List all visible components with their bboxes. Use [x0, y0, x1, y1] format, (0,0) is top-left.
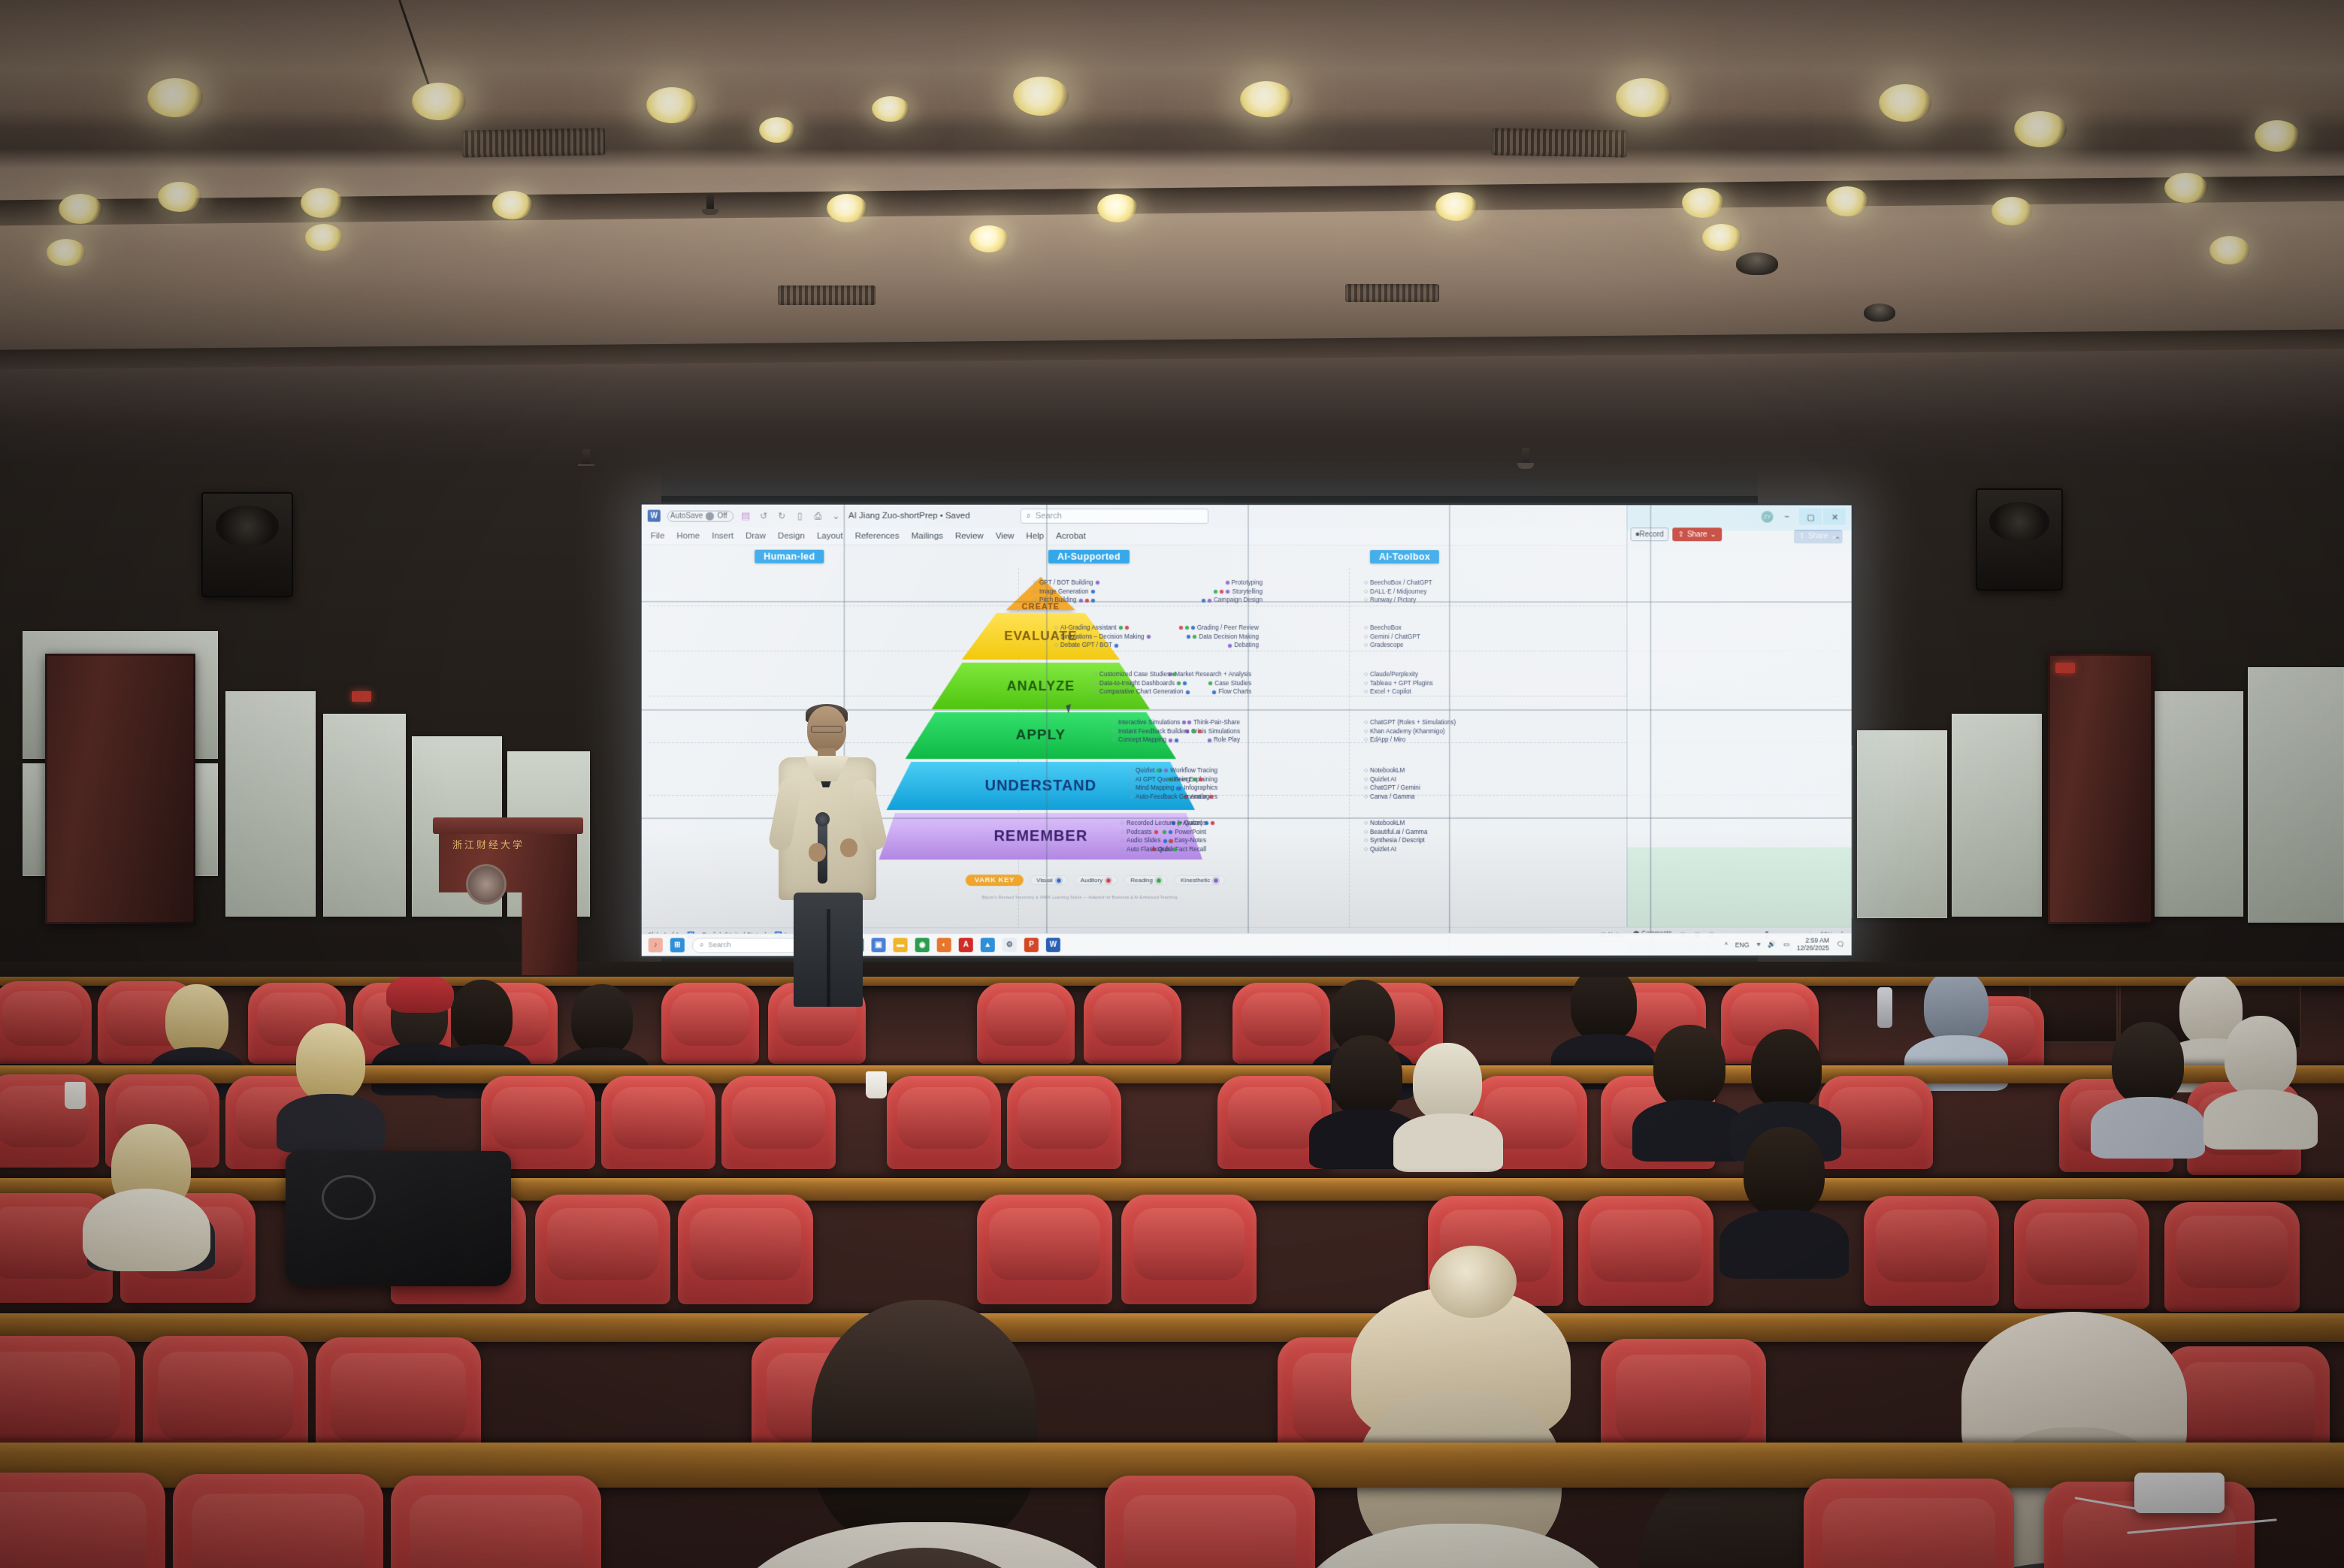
paper-cup: [866, 1071, 887, 1098]
auditorium-seat: [887, 1076, 1001, 1169]
auditory-dot-icon: [1169, 839, 1172, 843]
bullet-icon: ◇: [1121, 846, 1124, 853]
bullet-icon: ◇: [1112, 719, 1116, 726]
item-label: Auto-Feedback Generator: [1136, 793, 1207, 802]
word-icon: W: [648, 510, 661, 522]
podium-university-name: 浙江财经大学: [452, 837, 525, 851]
bullet-icon: ◇: [1093, 688, 1097, 695]
system-tray: ^ ENG ⌖ 🔊 ▭ 2:59 AM 12/26/2025 🗨: [1725, 937, 1845, 952]
person-shoulders: [1293, 1524, 1623, 1568]
presenter-left-hand: [809, 843, 826, 862]
auditorium-seat: [1105, 1476, 1315, 1568]
undo-icon[interactable]: ↺: [758, 510, 770, 521]
ceiling-light: [2014, 111, 2067, 147]
ceiling-light: [1826, 186, 1868, 216]
item-label: Mind Mapping: [1136, 784, 1174, 793]
item-label: Data-to-Insight Dashboards: [1099, 679, 1175, 688]
ai-supported-remember-items: ◇Recorded Lecture (+Avatar) ◇Podcasts ◇A…: [1121, 819, 1214, 854]
university-seal: [466, 864, 507, 905]
person-head: [1413, 1043, 1482, 1121]
list-item: Prototyping: [1202, 579, 1263, 588]
list-item: ◇NotebookLM: [1364, 766, 1420, 775]
auditorium-seat: [661, 983, 759, 1064]
autosave-state: Off: [717, 512, 727, 520]
item-label: BeechoBox: [1370, 624, 1402, 633]
search-input[interactable]: ⌕ Search: [1021, 509, 1208, 524]
bullet-icon: ◇: [1364, 680, 1368, 687]
powerpoint-window[interactable]: − ▢ ✕ ⏺ Record ⇪ Share ⌄ ⌃: [1626, 505, 1851, 955]
chevron-down-icon: ⌄: [1710, 530, 1716, 539]
visual-dot-icon: [1185, 690, 1189, 694]
ceiling-light: [1240, 81, 1293, 117]
item-label: AI-Grading Assistant: [1060, 624, 1117, 633]
exit-door-right: [2048, 654, 2153, 924]
person-shoulders: [2091, 1097, 2205, 1159]
ceiling-light: [872, 96, 909, 122]
ceiling-light: [147, 78, 203, 117]
beanie-pom: [1429, 1246, 1517, 1318]
bullet-icon: ◇: [1364, 624, 1368, 631]
pyramid-level-label: ANALYZE: [1007, 678, 1075, 693]
list-item: ◇Recorded Lecture (+Avatar): [1121, 819, 1214, 828]
reading-dot-icon: [1193, 635, 1196, 639]
visual-dot-icon: [1163, 839, 1166, 843]
ceiling-vent-2: [1492, 128, 1628, 157]
reading-dot-icon: [1177, 681, 1181, 685]
visual-dot-icon: [1202, 599, 1205, 603]
item-label: Prototyping: [1232, 579, 1263, 588]
list-item: ◇Khan Academy (Khanmigo): [1364, 727, 1456, 736]
item-label: Grading / Peer Review: [1197, 624, 1259, 633]
item-label: Quizlet: [1136, 766, 1154, 775]
list-item: ◇Excel + Copilot: [1364, 687, 1433, 696]
auditorium-seat: [1121, 1195, 1257, 1304]
item-label: Gradescope: [1370, 641, 1404, 650]
column-header-human-led: Human-led: [755, 550, 824, 563]
ceiling-light: [59, 194, 102, 224]
ppt-minimize-button[interactable]: −: [1776, 509, 1798, 525]
list-item: ◇Quizlet AI: [1364, 775, 1420, 784]
presenter-person: [768, 706, 888, 1007]
tab-insert[interactable]: Insert: [712, 531, 733, 540]
tab-view[interactable]: View: [996, 531, 1015, 540]
item-label: Interactive Simulations: [1118, 718, 1180, 727]
auditorium-seat: [1007, 1076, 1121, 1169]
bullet-icon: ◇: [1054, 642, 1058, 648]
list-item: ◇Quizlet: [1130, 766, 1213, 775]
firefox-icon[interactable]: ◐: [937, 938, 951, 952]
document-title[interactable]: AI Jiang Zuo-shortPrep • Saved: [848, 512, 970, 521]
list-item: ◇Gemini / ChatGPT: [1364, 633, 1420, 642]
tab-home[interactable]: Home: [676, 531, 700, 540]
auditorium-ceiling: [0, 0, 2344, 496]
vark-label: Visual: [1036, 877, 1053, 884]
bullet-icon: ◇: [1364, 793, 1368, 800]
item-label: Audio Slides: [1127, 836, 1161, 845]
list-item: ◇Audio Slides: [1121, 836, 1214, 845]
ceiling-light: [47, 239, 86, 266]
tab-mailings[interactable]: Mailings: [912, 531, 943, 540]
acrobat-icon[interactable]: A: [959, 938, 973, 952]
photos-icon[interactable]: ▲: [981, 938, 995, 952]
reading-dot-icon: [1119, 626, 1123, 630]
bullet-icon: ◇: [1364, 837, 1368, 844]
auditorium-seat: [721, 1076, 836, 1169]
search-icon: ⌕: [1027, 511, 1031, 521]
person-head: [2112, 1022, 2184, 1104]
list-item: ◇GPT / BOT Building: [1033, 579, 1099, 588]
bullet-icon: ◇: [1364, 642, 1368, 649]
ceiling-light: [1616, 78, 1671, 117]
item-label: Podcasts: [1127, 828, 1152, 837]
person-head: [451, 980, 513, 1053]
redo-icon[interactable]: ↻: [776, 510, 788, 521]
column-header-ai-supported: AI-Supported: [1048, 550, 1130, 563]
list-item: Data Decision Making: [1179, 633, 1259, 642]
bullet-icon: ◇: [1054, 633, 1058, 640]
wall-panel: [2155, 691, 2243, 917]
human-led-evaluate-items: Grading / Peer Review Data Decision Maki…: [1179, 624, 1259, 650]
list-item: ◇Quizlet AI: [1364, 845, 1427, 854]
desk-row: [0, 977, 2344, 986]
list-item: ◇Concept Mapping: [1112, 736, 1202, 745]
ai-toolbox-understand-items: ◇NotebookLM ◇Quizlet AI ◇ChatGPT / Gemin…: [1364, 766, 1420, 802]
ceiling-light: [412, 83, 466, 120]
chrome-icon[interactable]: ◉: [915, 938, 930, 952]
visual-dot-icon: [1175, 739, 1178, 742]
item-label: Claude/Perplexity: [1370, 670, 1418, 679]
tab-draw[interactable]: Draw: [746, 531, 766, 540]
bullet-icon: ◇: [1364, 671, 1368, 678]
ceiling-dome-2: [1864, 304, 1895, 322]
bullet-icon: ◇: [1054, 624, 1058, 631]
item-label: Storytelling: [1232, 588, 1263, 597]
presenter-glasses: [811, 726, 842, 733]
network-icon[interactable]: ⌖: [1756, 941, 1760, 949]
ceiling-light: [158, 182, 201, 212]
auditory-dot-icon: [1209, 795, 1213, 799]
list-item: ◇Auto-Feedback Generator: [1130, 793, 1213, 802]
person-head: [296, 1023, 365, 1101]
item-label: Quizlet AI: [1370, 775, 1396, 784]
person-head: [1571, 977, 1637, 1041]
list-item: ◇ChatGPT (Roles + Simulations): [1364, 718, 1456, 727]
reading-dot-icon: [1156, 878, 1162, 884]
item-label: EdApp / Miro: [1370, 736, 1405, 745]
column-header-ai-toolbox: AI-Toolbox: [1370, 550, 1439, 563]
item-label: NotebookLM: [1370, 819, 1405, 828]
auditory-dot-icon: [1085, 599, 1089, 603]
auditorium-seat: [977, 983, 1075, 1064]
word-taskbar-icon[interactable]: W: [1046, 938, 1060, 952]
wall-panel: [323, 714, 406, 917]
kinesthetic-dot-icon: [1146, 635, 1150, 639]
auditorium-seat: [173, 1474, 383, 1568]
bullet-icon: ◇: [1364, 633, 1368, 640]
sprinkler-head-1: [706, 194, 714, 213]
vark-legend-auditory: Auditory: [1075, 875, 1118, 885]
item-label: GPT / BOT Building: [1039, 579, 1093, 588]
item-label: Recorded Lecture (+Avatar): [1127, 819, 1202, 828]
item-label: Case Studies: [1214, 679, 1251, 688]
item-label: BeechoBox / ChatGPT: [1370, 579, 1432, 588]
wall-speaker-right: [1976, 488, 2063, 591]
vark-label: Kinesthetic: [1181, 877, 1210, 884]
visual-dot-icon: [1090, 590, 1094, 594]
list-item: ◇Mind Mapping: [1130, 784, 1213, 793]
ceiling-light: [827, 194, 867, 222]
notification-icon[interactable]: 🗨: [1837, 941, 1845, 949]
reading-dot-icon: [1208, 681, 1212, 685]
ai-toolbox-analyze-items: ◇Claude/Perplexity ◇Tableau + GPT Plugin…: [1364, 670, 1433, 696]
vark-legend-kinesthetic: Kinesthetic: [1175, 875, 1225, 885]
kinesthetic-dot-icon: [1096, 581, 1099, 585]
item-label: Flow Charts: [1218, 687, 1251, 696]
security-camera-dome: [1736, 252, 1778, 275]
bullet-icon: ◇: [1130, 776, 1133, 783]
auditorium-seat: [1232, 983, 1330, 1064]
windows-start-icon[interactable]: ⊞: [670, 938, 685, 952]
kinesthetic-dot-icon: [1228, 644, 1232, 648]
ceiling-beam-1: [0, 174, 2344, 226]
bullet-icon: ◇: [1093, 671, 1097, 678]
item-label: Tableau + GPT Plugins: [1370, 679, 1433, 688]
list-item: Debating: [1179, 641, 1259, 650]
auditorium-seat: [601, 1076, 715, 1169]
bullet-icon: ◇: [1033, 579, 1037, 586]
toggle-knob-icon: [706, 512, 714, 520]
auditory-dot-icon: [1198, 730, 1202, 733]
pyramid-level-label: UNDERSTAND: [984, 778, 1096, 795]
item-label: Excel + Copilot: [1370, 687, 1411, 696]
record-button[interactable]: ⏺ Record: [1630, 527, 1668, 541]
item-label: Concept Mapping: [1118, 736, 1166, 745]
language-indicator[interactable]: ENG: [1735, 941, 1750, 948]
reading-dot-icon: [1185, 626, 1189, 630]
clock-date: 12/26/2025: [1797, 944, 1829, 952]
search-icon: ⌕: [700, 941, 703, 949]
list-item: ◇Simulations – Decision Making: [1054, 633, 1151, 642]
item-label: Debating: [1234, 641, 1259, 650]
list-item: ◇DALL·E / Midjourney: [1364, 588, 1432, 597]
podium-body: [439, 832, 577, 975]
ceiling-light: [1435, 192, 1477, 221]
list-item: ◇NotebookLM: [1364, 819, 1427, 828]
list-item: ◇Data-to-Insight Dashboards: [1093, 679, 1190, 688]
auditorium-seat: [1864, 1196, 1999, 1306]
audience-seating: [0, 977, 2344, 1568]
ceiling-light: [1702, 224, 1741, 251]
ai-supported-evaluate-items: ◇AI-Grading Assistant ◇Simulations – Dec…: [1054, 624, 1151, 650]
person-head: [1653, 1025, 1725, 1107]
auditorium-seat: [1804, 1479, 2014, 1568]
wall-panel: [2248, 667, 2344, 923]
list-item: ◇Pitch Building: [1033, 596, 1099, 605]
ceiling-vent-3: [778, 286, 876, 305]
ppt-close-button[interactable]: ✕: [1824, 509, 1846, 525]
bullet-icon: ◇: [1364, 719, 1368, 726]
bullet-icon: ◇: [1093, 680, 1097, 687]
search-placeholder: Search: [708, 941, 730, 949]
visual-dot-icon: [1183, 681, 1187, 685]
person-shoulders: [2203, 1089, 2318, 1150]
white-fur-hat: [83, 1189, 210, 1271]
wall-panel: [1952, 714, 2042, 917]
list-item: ◇Image Generation: [1033, 588, 1099, 597]
ai-supported-analyze-items: ◇Customized Case Studies ◇Data-to-Insigh…: [1093, 670, 1190, 696]
collapse-ribbon-icon[interactable]: ⌃: [1834, 535, 1841, 545]
item-label: AI GPT Questioning: [1136, 775, 1190, 784]
bullet-icon: ◇: [1364, 784, 1368, 791]
paper-cup: [65, 1082, 86, 1109]
ai-toolbox-apply-items: ◇ChatGPT (Roles + Simulations) ◇Khan Aca…: [1364, 718, 1456, 745]
tray-chevron-icon[interactable]: ^: [1725, 941, 1728, 948]
vark-key-title: VARK KEY: [966, 875, 1024, 886]
wall-panel: [225, 691, 316, 917]
kinesthetic-dot-icon: [1213, 878, 1219, 884]
tiktok-icon[interactable]: ♪: [649, 938, 663, 952]
list-item: ◇Customized Case Studies: [1093, 670, 1190, 679]
lecture-hall-photo: W AutoSave Off ▤ ↺ ↻ ▯ ⎙ ⌄ AI Jiang Zuo-…: [0, 0, 2344, 1568]
auditorium-seat: [0, 981, 92, 1064]
wall-panel: [1857, 730, 1947, 918]
tab-acrobat[interactable]: Acrobat: [1056, 531, 1086, 540]
file-explorer-icon[interactable]: ▬: [894, 938, 908, 952]
list-item: ◇Claude/Perplexity: [1364, 670, 1433, 679]
print-icon[interactable]: ⎙: [812, 510, 824, 521]
visual-dot-icon: [1056, 878, 1062, 884]
bullet-icon: ◇: [1033, 588, 1037, 595]
reading-dot-icon: [1157, 769, 1160, 772]
new-page-icon[interactable]: ▯: [794, 510, 806, 521]
exit-door-left: [45, 654, 195, 924]
settings-icon[interactable]: ⚙: [1003, 938, 1017, 952]
item-label: Synthesia / Descript: [1370, 836, 1425, 845]
kinesthetic-dot-icon: [1182, 721, 1186, 724]
list-item: ◇BeechoBox / ChatGPT: [1364, 579, 1432, 588]
ppt-restore-button[interactable]: ▢: [1800, 509, 1822, 525]
item-label: Runway / Pictory: [1370, 596, 1416, 605]
item-label: NotebookLM: [1370, 766, 1405, 775]
volume-icon[interactable]: 🔊: [1768, 941, 1776, 949]
tab-references[interactable]: References: [855, 531, 900, 540]
exit-indicator: [352, 691, 371, 702]
tab-file[interactable]: File: [651, 531, 665, 540]
list-item: ◇Comparative Chart Generation: [1093, 687, 1190, 696]
item-label: Data Decision Making: [1199, 633, 1259, 642]
bullet-icon: ◇: [1364, 846, 1368, 853]
list-item: ◇ChatGPT / Gemini: [1364, 784, 1420, 793]
list-item: ◇Beautiful.ai / Gamma: [1364, 828, 1427, 837]
person-head: [1330, 1035, 1402, 1116]
visual-dot-icon: [1115, 644, 1118, 648]
list-item: ◇EdApp / Miro: [1364, 736, 1456, 745]
person-head: [2225, 1016, 2297, 1097]
item-label: Campaign Design: [1214, 596, 1263, 605]
save-icon[interactable]: ▤: [740, 510, 752, 521]
share-icon: ⇪: [1678, 530, 1684, 539]
list-item: ◇Runway / Pictory: [1364, 596, 1432, 605]
vark-label: Auditory: [1081, 877, 1102, 884]
human-led-create-items: Prototyping Storytelling Campaign Design: [1202, 579, 1263, 605]
tab-layout[interactable]: Layout: [817, 531, 843, 540]
hanging-cable: [398, 0, 432, 92]
pyramid-level-label: REMEMBER: [994, 828, 1087, 845]
search-placeholder: Search: [1036, 512, 1062, 521]
water-bottle: [1877, 987, 1892, 1028]
tab-design[interactable]: Design: [778, 531, 805, 540]
visual-dot-icon: [1212, 690, 1216, 694]
autosave-toggle[interactable]: AutoSave Off: [667, 510, 733, 521]
list-item: ◇Debate GPT / BOT: [1054, 641, 1151, 650]
ai-supported-apply-items: ◇Interactive Simulations ◇Instant Feedba…: [1112, 718, 1202, 745]
chevron-down-icon[interactable]: ⌄: [830, 510, 842, 521]
item-label: Simulations – Decision Making: [1060, 633, 1145, 642]
list-item: ◇BeechoBox: [1364, 624, 1420, 633]
list-item: ◇AI GPT Questioning: [1130, 775, 1213, 784]
vark-key-legend: VARK KEY Visual Auditory Reading Kin: [966, 875, 1225, 886]
battery-icon[interactable]: ▭: [1783, 941, 1789, 949]
kinesthetic-dot-icon: [1208, 599, 1211, 603]
bullet-icon: ◇: [1364, 736, 1368, 743]
presenter-right-hand: [840, 838, 857, 857]
bullet-icon: ◇: [1112, 728, 1116, 735]
item-label: Comparative Chart Generation: [1099, 687, 1184, 696]
pyramid-level-label: APPLY: [1016, 727, 1066, 744]
wall-speaker-left: [201, 492, 293, 597]
item-label: DALL·E / Midjourney: [1370, 588, 1426, 597]
ai-toolbox-evaluate-items: ◇BeechoBox ◇Gemini / ChatGPT ◇Gradescope: [1364, 624, 1420, 650]
person-head: [1744, 1127, 1825, 1217]
bullet-icon: ◇: [1121, 820, 1124, 826]
list-item: Storytelling: [1202, 588, 1263, 597]
auditorium-seat: [1084, 983, 1181, 1064]
black-backpack: [286, 1151, 511, 1286]
list-item: ◇Podcasts: [1121, 828, 1214, 837]
bullet-icon: ◇: [1364, 597, 1368, 604]
bullet-icon: ◇: [1121, 829, 1124, 835]
ceiling-light: [1097, 194, 1138, 222]
bullet-icon: ◇: [1130, 767, 1133, 774]
auditory-dot-icon: [1105, 878, 1112, 884]
ppt-share-button[interactable]: ⇪ Share ⌄: [1673, 527, 1722, 541]
powerpoint-icon[interactable]: P: [1024, 938, 1039, 952]
visual-dot-icon: [1191, 626, 1195, 630]
power-bank: [2134, 1473, 2225, 1513]
reading-dot-icon: [1173, 847, 1177, 851]
item-label: Gemini / ChatGPT: [1370, 633, 1420, 642]
tab-review[interactable]: Review: [955, 531, 984, 540]
list-item: ◇AI-Grading Assistant: [1054, 624, 1151, 633]
bullet-icon: ◇: [1130, 793, 1133, 800]
tab-help[interactable]: Help: [1026, 531, 1044, 540]
lecture-podium: 浙江财经大学: [433, 817, 583, 975]
column-guide: [1349, 568, 1350, 932]
kinesthetic-dot-icon: [1226, 590, 1229, 594]
auditory-dot-icon: [1125, 626, 1129, 630]
ceiling-light: [1013, 77, 1069, 116]
list-item: ◇Tableau + GPT Plugins: [1364, 679, 1433, 688]
visual-dot-icon: [1187, 635, 1190, 639]
bullet-icon: ◇: [1121, 838, 1124, 844]
item-label: Instant Feedback Builders: [1118, 727, 1190, 736]
item-label: Auto Flashcards: [1127, 845, 1171, 854]
person-shoulders: [1393, 1113, 1503, 1172]
list-item: Campaign Design: [1202, 596, 1263, 605]
taskbar-clock[interactable]: 2:59 AM 12/26/2025: [1797, 937, 1829, 952]
ai-toolbox-remember-items: ◇NotebookLM ◇Beautiful.ai / Gamma ◇Synth…: [1364, 819, 1427, 854]
visual-dot-icon: [1205, 821, 1208, 825]
